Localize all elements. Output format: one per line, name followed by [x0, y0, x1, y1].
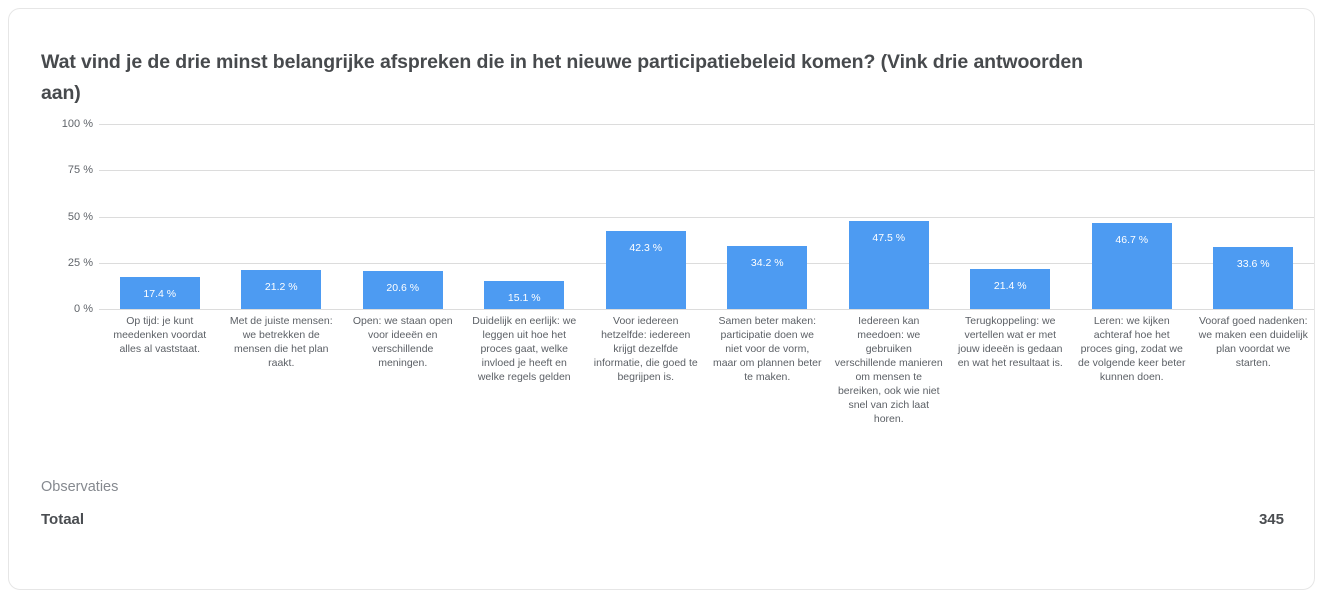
bar-group[interactable]: 46.7 %: [1071, 124, 1193, 309]
x-axis-category-label: Open: we staan open voor ideeën en versc…: [342, 314, 464, 370]
y-axis-tick-label: 0 %: [41, 303, 93, 315]
gridline: [99, 309, 1314, 310]
bar[interactable]: 42.3 %: [606, 231, 686, 309]
total-row: Totaal 345: [41, 511, 1284, 531]
chart-plot-area: 0 %25 %50 %75 %100 % 17.4 %21.2 %20.6 %1…: [41, 124, 1284, 454]
x-axis-category-label: Op tijd: je kunt meedenken voordat alles…: [99, 314, 221, 356]
bar[interactable]: 33.6 %: [1213, 247, 1293, 309]
bar[interactable]: 47.5 %: [849, 221, 929, 309]
observations-label: Observaties: [41, 479, 118, 495]
y-axis-tick-label: 25 %: [41, 257, 93, 269]
bar[interactable]: 20.6 %: [363, 271, 443, 309]
total-value: 345: [1259, 511, 1284, 528]
bar-value-label: 21.4 %: [970, 280, 1050, 292]
bar[interactable]: 46.7 %: [1092, 223, 1172, 309]
bar-group[interactable]: 21.4 %: [950, 124, 1072, 309]
bar-value-label: 46.7 %: [1092, 234, 1172, 246]
y-axis-labels: 0 %25 %50 %75 %100 %: [41, 124, 93, 309]
bar-value-label: 34.2 %: [727, 257, 807, 269]
x-axis-category-label: Iedereen kan meedoen: we gebruiken versc…: [828, 314, 950, 426]
bar-value-label: 42.3 %: [606, 242, 686, 254]
y-axis-tick-label: 50 %: [41, 211, 93, 223]
page-title: Wat vind je de drie minst belangrijke af…: [41, 47, 1101, 109]
x-axis-labels: Op tijd: je kunt meedenken voordat alles…: [99, 314, 1314, 454]
x-axis-category-label: Voor iedereen hetzelfde: iedereen krijgt…: [585, 314, 707, 384]
x-axis-category-label: Met de juiste mensen: we betrekken de me…: [221, 314, 343, 370]
bar-value-label: 21.2 %: [241, 281, 321, 293]
chart-card: Wat vind je de drie minst belangrijke af…: [8, 8, 1315, 590]
total-label: Totaal: [41, 511, 84, 528]
x-axis-category-label: Vooraf goed nadenken: we maken een duide…: [1193, 314, 1315, 370]
bar-value-label: 17.4 %: [120, 288, 200, 300]
bar-group[interactable]: 34.2 %: [707, 124, 829, 309]
bar-group[interactable]: 17.4 %: [99, 124, 221, 309]
bar-group[interactable]: 20.6 %: [342, 124, 464, 309]
bar-group[interactable]: 21.2 %: [221, 124, 343, 309]
bar-group[interactable]: 42.3 %: [585, 124, 707, 309]
bar[interactable]: 17.4 %: [120, 277, 200, 309]
bar-group[interactable]: 33.6 %: [1193, 124, 1315, 309]
bar[interactable]: 21.4 %: [970, 269, 1050, 309]
x-axis-category-label: Terugkoppeling: we vertellen wat er met …: [950, 314, 1072, 370]
y-axis-tick-label: 100 %: [41, 118, 93, 130]
y-axis-tick-label: 75 %: [41, 164, 93, 176]
bar[interactable]: 21.2 %: [241, 270, 321, 309]
x-axis-category-label: Duidelijk en eerlijk: we leggen uit hoe …: [464, 314, 586, 384]
bar[interactable]: 34.2 %: [727, 246, 807, 309]
bar-value-label: 47.5 %: [849, 232, 929, 244]
chart-bars: 17.4 %21.2 %20.6 %15.1 %42.3 %34.2 %47.5…: [99, 124, 1314, 309]
bar-value-label: 33.6 %: [1213, 258, 1293, 270]
bar-value-label: 15.1 %: [484, 292, 564, 304]
bar-value-label: 20.6 %: [363, 282, 443, 294]
bar-group[interactable]: 47.5 %: [828, 124, 950, 309]
x-axis-category-label: Leren: we kijken achteraf hoe het proces…: [1071, 314, 1193, 384]
x-axis-category-label: Samen beter maken: participatie doen we …: [707, 314, 829, 384]
bar-group[interactable]: 15.1 %: [464, 124, 586, 309]
bar[interactable]: 15.1 %: [484, 281, 564, 309]
